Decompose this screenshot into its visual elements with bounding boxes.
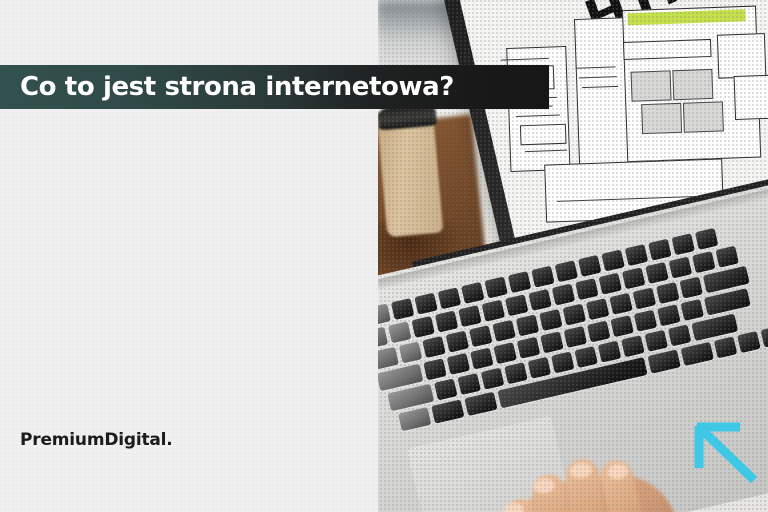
wireframe-side-tile bbox=[717, 33, 767, 79]
brand-logo: PremiumDigital. bbox=[20, 430, 173, 450]
title-banner: Co to jest strona internetowa? bbox=[0, 65, 549, 109]
wireframe-image-tile bbox=[672, 69, 713, 100]
wireframe-block bbox=[520, 124, 567, 146]
wireframe-image-tile bbox=[683, 101, 724, 132]
wireframe-image-tile bbox=[631, 70, 672, 101]
page-title: Co to jest strona internetowa? bbox=[0, 72, 454, 102]
slide-canvas: HTML bbox=[0, 0, 768, 512]
cursor-arrow bbox=[688, 418, 760, 488]
wireframe-search-field bbox=[623, 39, 712, 60]
arrow-up-left-icon bbox=[688, 418, 760, 488]
wireframe-side-tile bbox=[734, 74, 768, 120]
wireframe-image-tile bbox=[641, 103, 682, 134]
